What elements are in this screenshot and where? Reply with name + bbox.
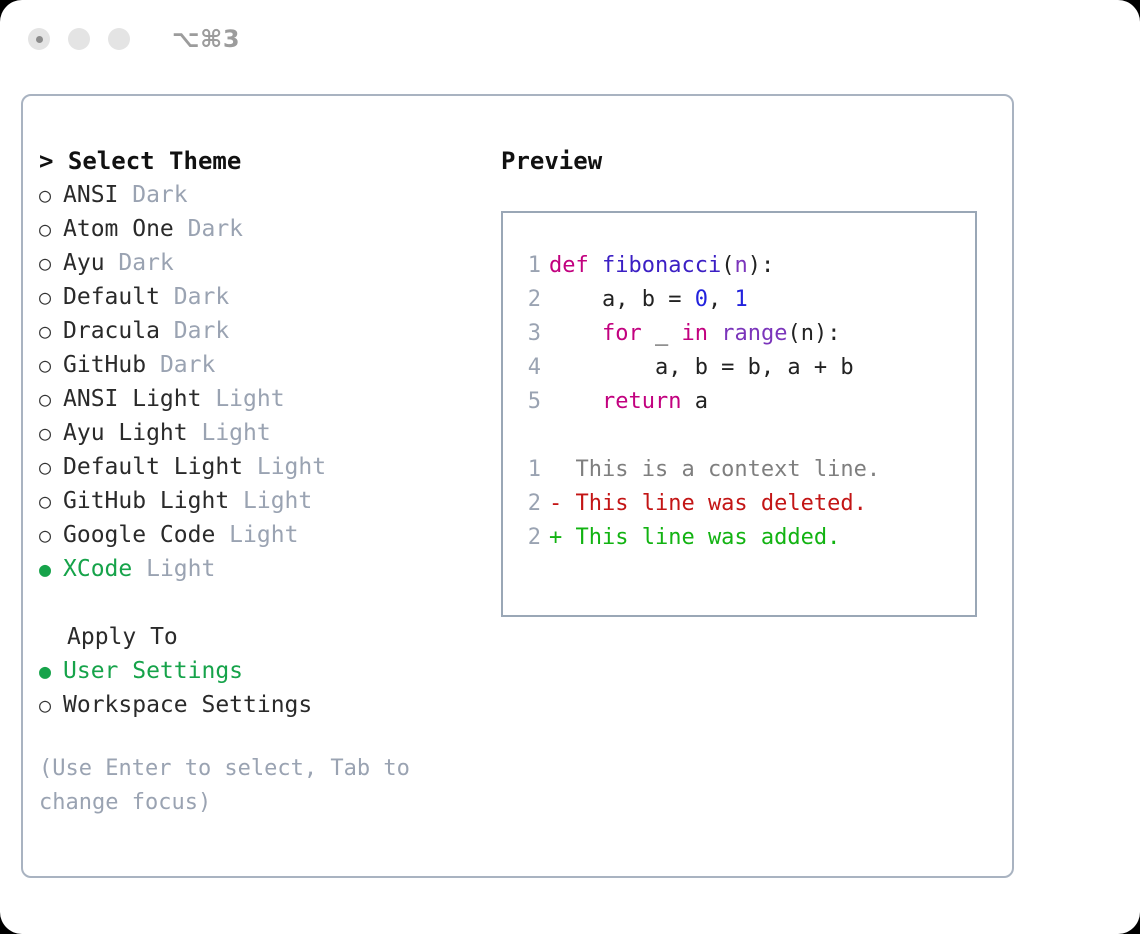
- diff-line-number: 1: [503, 453, 549, 487]
- code-line-text: a, b = b, a + b: [549, 351, 854, 385]
- diff-line: 2- This line was deleted.: [503, 487, 975, 521]
- radio-unselected-icon: ○: [39, 382, 63, 416]
- code-token: [549, 321, 602, 346]
- theme-option-label: Ayu Light: [63, 416, 188, 450]
- code-token: a, b =: [549, 287, 695, 312]
- theme-option-label: Default: [63, 280, 160, 314]
- theme-selection-panel: > Select Theme ○ANSI Dark○Atom One Dark○…: [39, 144, 489, 820]
- code-line: 1def fibonacci(n):: [503, 249, 975, 283]
- radio-unselected-icon: ○: [39, 212, 63, 246]
- code-token: (n):: [787, 321, 840, 346]
- theme-option-kind: Light: [132, 552, 215, 586]
- code-token: fibonacci: [602, 253, 721, 278]
- code-line-number: 1: [503, 249, 549, 283]
- radio-unselected-icon: ○: [39, 688, 63, 722]
- theme-option-default-light[interactable]: ○Default Light Light: [39, 450, 489, 484]
- code-token: n: [734, 253, 747, 278]
- apply-to-option-user-settings[interactable]: ●User Settings: [39, 654, 489, 688]
- theme-option-github[interactable]: ○GitHub Dark: [39, 348, 489, 382]
- close-dot-icon: [36, 36, 43, 43]
- section-spacer: [39, 586, 489, 620]
- code-sample: 1def fibonacci(n):2 a, b = 0, 13 for _ i…: [503, 249, 975, 419]
- preview-box: 1def fibonacci(n):2 a, b = 0, 13 for _ i…: [501, 211, 977, 617]
- apply-to-option-label: Workspace Settings: [63, 688, 312, 722]
- code-token: [549, 389, 602, 414]
- radio-unselected-icon: ○: [39, 450, 63, 484]
- code-line: 2 a, b = 0, 1: [503, 283, 975, 317]
- theme-option-default[interactable]: ○Default Dark: [39, 280, 489, 314]
- select-theme-heading: > Select Theme: [39, 144, 489, 178]
- radio-unselected-icon: ○: [39, 518, 63, 552]
- code-line-text: a, b = 0, 1: [549, 283, 748, 317]
- theme-option-label: Atom One: [63, 212, 174, 246]
- code-line-text: def fibonacci(n):: [549, 249, 774, 283]
- code-token: in: [681, 321, 708, 346]
- code-token: ,: [708, 287, 735, 312]
- apply-to-option-label: User Settings: [63, 654, 243, 688]
- theme-option-kind: Dark: [160, 280, 229, 314]
- radio-selected-icon: ●: [39, 654, 63, 688]
- code-token: (: [721, 253, 734, 278]
- code-line: 3 for _ in range(n):: [503, 317, 975, 351]
- theme-option-label: ANSI Light: [63, 382, 201, 416]
- theme-option-github-light[interactable]: ○GitHub Light Light: [39, 484, 489, 518]
- diff-line-text: + This line was added.: [549, 521, 840, 555]
- preview-heading: Preview: [501, 144, 991, 178]
- traffic-light-minimize-icon[interactable]: [68, 28, 90, 50]
- code-token: ):: [748, 253, 775, 278]
- code-line: 4 a, b = b, a + b: [503, 351, 975, 385]
- keyboard-hint-text: (Use Enter to select, Tab to change focu…: [39, 752, 439, 820]
- code-token: a, b = b, a + b: [549, 355, 854, 380]
- diff-line-text: This is a context line.: [549, 453, 880, 487]
- theme-option-list[interactable]: ○ANSI Dark○Atom One Dark○Ayu Dark○Defaul…: [39, 178, 489, 586]
- theme-option-kind: Light: [229, 484, 312, 518]
- theme-option-kind: Light: [188, 416, 271, 450]
- code-token: _: [642, 321, 682, 346]
- theme-option-ansi-light[interactable]: ○ANSI Light Light: [39, 382, 489, 416]
- window-controls: [28, 28, 130, 50]
- theme-option-ayu-light[interactable]: ○Ayu Light Light: [39, 416, 489, 450]
- radio-unselected-icon: ○: [39, 416, 63, 450]
- app-window: ⌥⌘3 > Select Theme ○ANSI Dark○Atom One D…: [0, 0, 1140, 934]
- theme-option-label: GitHub Light: [63, 484, 229, 518]
- theme-option-kind: Dark: [146, 348, 215, 382]
- theme-option-label: Google Code: [63, 518, 215, 552]
- code-line-number: 2: [503, 283, 549, 317]
- diff-line-number: 2: [503, 521, 549, 555]
- theme-option-kind: Dark: [174, 212, 243, 246]
- diff-line-text: - This line was deleted.: [549, 487, 867, 521]
- radio-selected-icon: ●: [39, 552, 63, 586]
- theme-option-kind: Light: [243, 450, 326, 484]
- theme-option-kind: Dark: [160, 314, 229, 348]
- theme-option-kind: Light: [215, 518, 298, 552]
- theme-option-label: Default Light: [63, 450, 243, 484]
- code-line-text: for _ in range(n):: [549, 317, 840, 351]
- code-line: 5 return a: [503, 385, 975, 419]
- diff-sample: 1 This is a context line.2- This line wa…: [503, 453, 975, 555]
- theme-option-label: XCode: [63, 552, 132, 586]
- theme-option-ansi[interactable]: ○ANSI Dark: [39, 178, 489, 212]
- apply-to-heading: Apply To: [39, 620, 489, 654]
- code-line-number: 4: [503, 351, 549, 385]
- theme-option-xcode[interactable]: ●XCode Light: [39, 552, 489, 586]
- theme-option-label: Dracula: [63, 314, 160, 348]
- titlebar: ⌥⌘3: [0, 0, 1140, 78]
- code-token: return: [602, 389, 681, 414]
- diff-line: 1 This is a context line.: [503, 453, 975, 487]
- theme-option-kind: Dark: [105, 246, 174, 280]
- radio-unselected-icon: ○: [39, 178, 63, 212]
- theme-option-google-code[interactable]: ○Google Code Light: [39, 518, 489, 552]
- theme-option-label: GitHub: [63, 348, 146, 382]
- radio-unselected-icon: ○: [39, 348, 63, 382]
- radio-unselected-icon: ○: [39, 314, 63, 348]
- theme-option-ayu[interactable]: ○Ayu Dark: [39, 246, 489, 280]
- theme-option-kind: Dark: [118, 178, 187, 212]
- theme-picker-window: > Select Theme ○ANSI Dark○Atom One Dark○…: [21, 94, 1014, 878]
- diff-line-number: 2: [503, 487, 549, 521]
- two-column-layout: > Select Theme ○ANSI Dark○Atom One Dark○…: [23, 96, 1012, 876]
- code-diff-spacer: [503, 419, 975, 453]
- code-line-text: return a: [549, 385, 708, 419]
- theme-option-dracula[interactable]: ○Dracula Dark: [39, 314, 489, 348]
- radio-unselected-icon: ○: [39, 280, 63, 314]
- code-token: [708, 321, 721, 346]
- theme-option-kind: Light: [201, 382, 284, 416]
- apply-to-option-workspace-settings[interactable]: ○Workspace Settings: [39, 688, 489, 722]
- code-token: a: [681, 389, 708, 414]
- traffic-light-close-icon[interactable]: [28, 28, 50, 50]
- keyboard-shortcut-label: ⌥⌘3: [172, 25, 240, 53]
- code-token: def: [549, 253, 602, 278]
- apply-to-option-list[interactable]: ●User Settings○Workspace Settings: [39, 654, 489, 722]
- theme-option-label: Ayu: [63, 246, 105, 280]
- theme-option-label: ANSI: [63, 178, 118, 212]
- diff-line: 2+ This line was added.: [503, 521, 975, 555]
- traffic-light-zoom-icon[interactable]: [108, 28, 130, 50]
- code-token: for: [602, 321, 642, 346]
- code-line-number: 5: [503, 385, 549, 419]
- code-token: 0: [695, 287, 708, 312]
- code-token: 1: [734, 287, 747, 312]
- radio-unselected-icon: ○: [39, 484, 63, 518]
- radio-unselected-icon: ○: [39, 246, 63, 280]
- preview-panel: Preview 1def fibonacci(n):2 a, b = 0, 13…: [501, 144, 991, 617]
- code-token: range: [721, 321, 787, 346]
- theme-option-atom-one[interactable]: ○Atom One Dark: [39, 212, 489, 246]
- code-line-number: 3: [503, 317, 549, 351]
